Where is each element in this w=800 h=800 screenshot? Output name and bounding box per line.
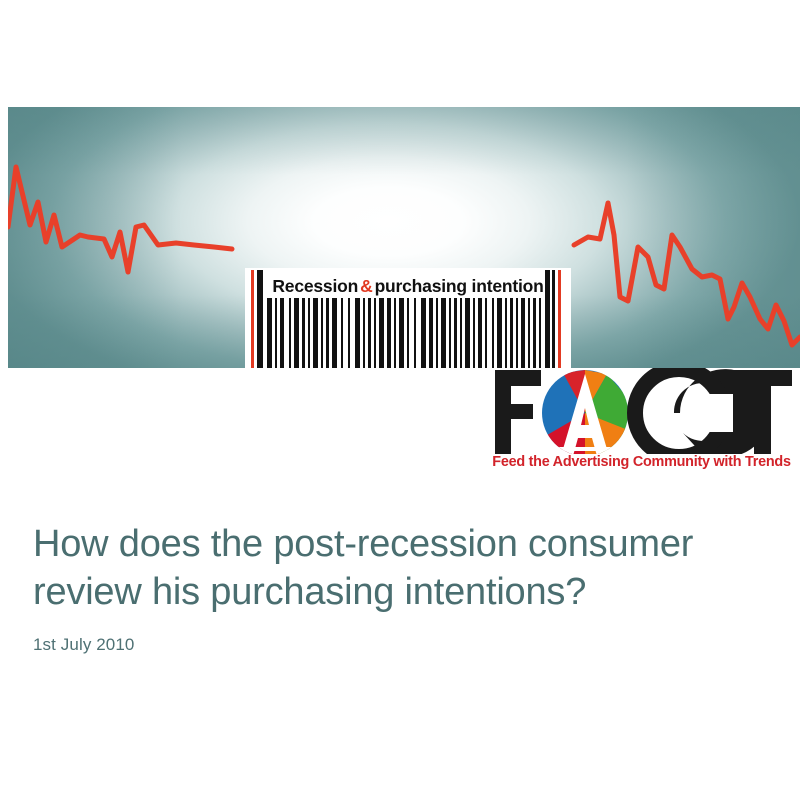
logo-letter-a: [542, 370, 628, 454]
fact-wordmark: [489, 368, 794, 454]
page-title: How does the post-recession consumer rev…: [33, 520, 763, 616]
page-title-line-1: How does the post-recession consumer: [33, 523, 693, 565]
barcode-graphic: Recession & purchasing intention: [245, 268, 571, 368]
fact-tagline: Feed the Advertising Community with Tren…: [489, 454, 794, 470]
slide-date: 1st July 2010: [33, 634, 763, 656]
barcode-label-suffix: purchasing intention: [375, 276, 544, 297]
slide-canvas: Recession & purchasing intention: [0, 0, 800, 800]
hero-banner: Recession & purchasing intention: [8, 107, 800, 368]
barcode-label-prefix: Recession: [272, 276, 358, 297]
barcode-label-ampersand: &: [360, 276, 372, 297]
fact-logo: Feed the Advertising Community with Tren…: [489, 368, 794, 478]
barcode-title-label: Recession & purchasing intention: [265, 275, 551, 297]
logo-letter-f: [495, 370, 541, 454]
title-block: How does the post-recession consumer rev…: [33, 520, 763, 656]
page-title-line-2: review his purchasing intentions?: [33, 571, 586, 613]
